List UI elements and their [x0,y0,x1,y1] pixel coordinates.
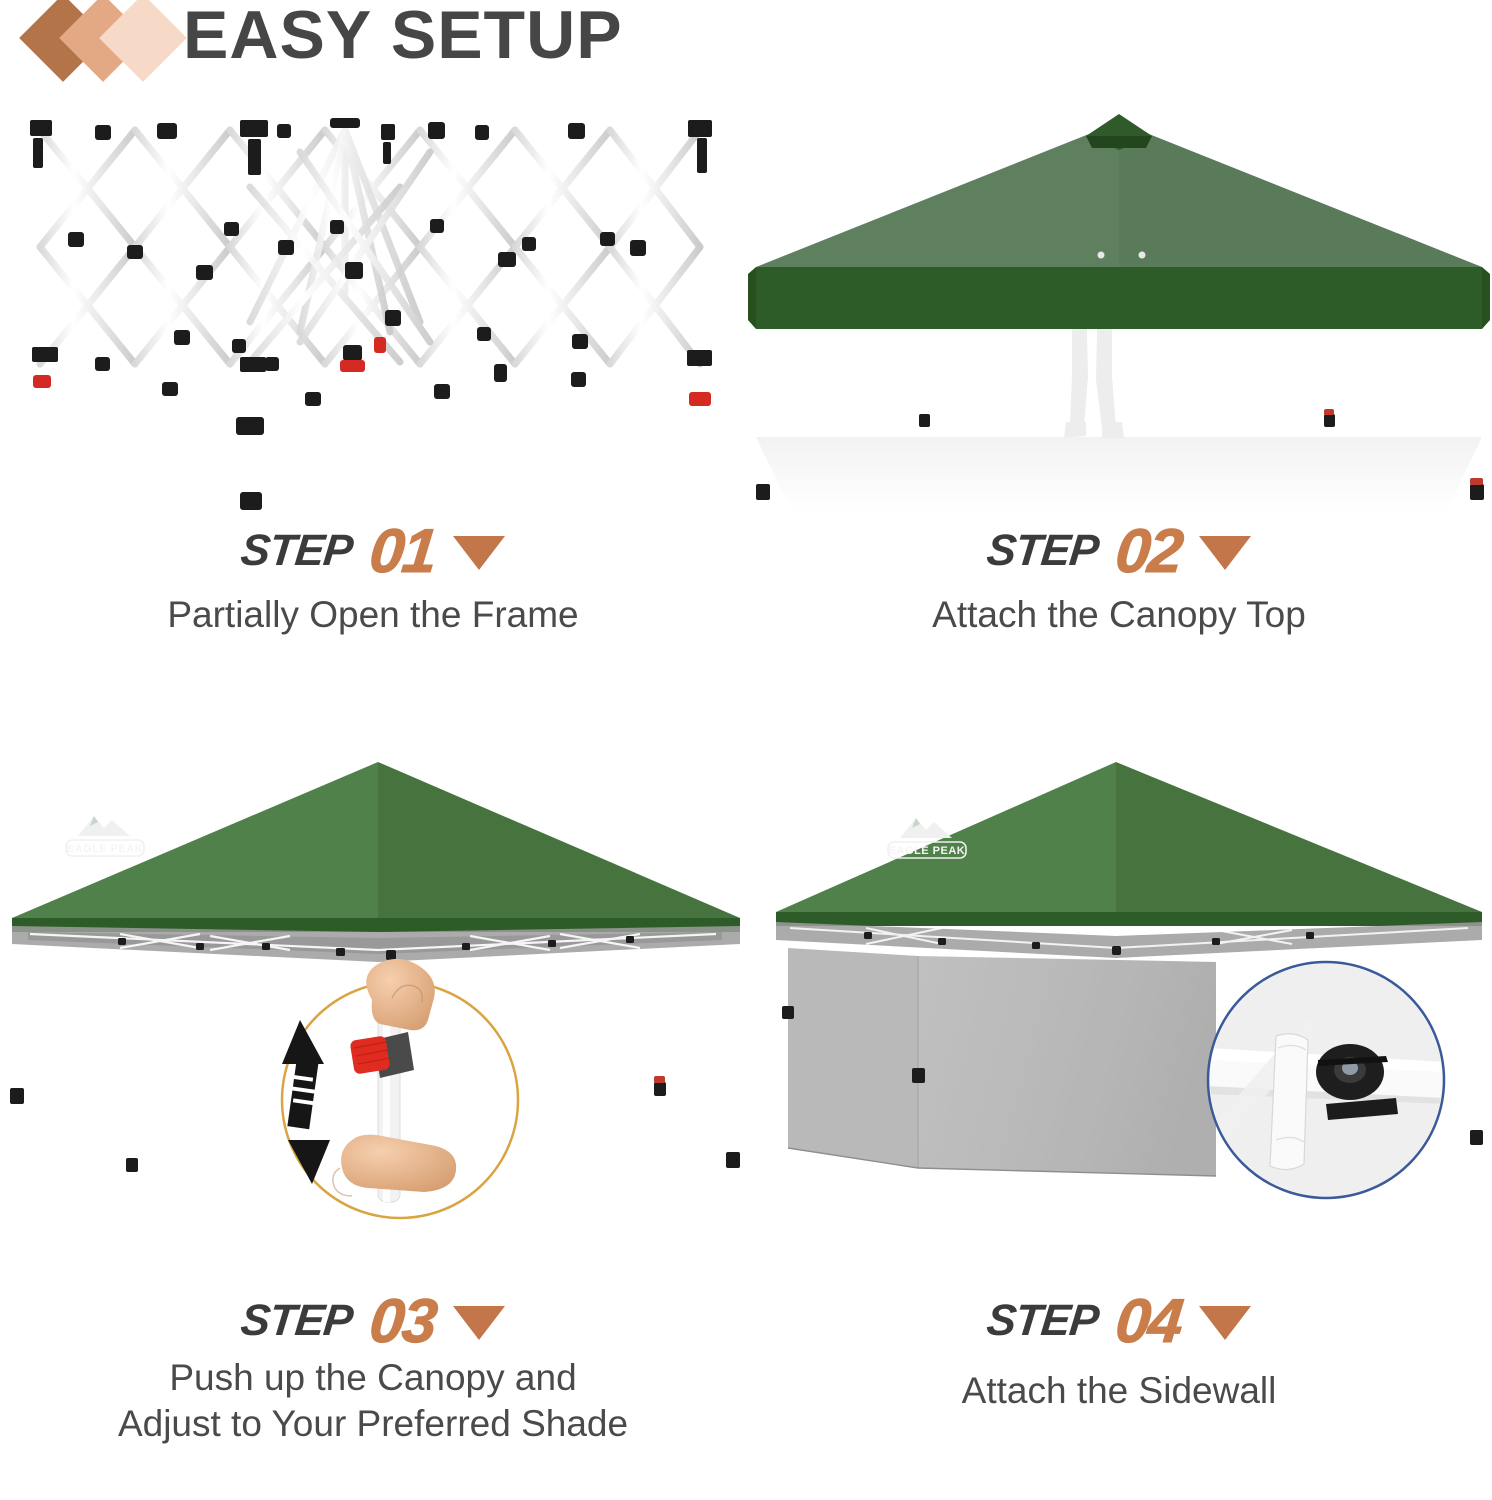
page-title: EASY SETUP [183,0,623,74]
canopy-roof-left [12,762,378,918]
step-description-3-line2: Adjust to Your Preferred Shade [0,1401,746,1447]
step-word: STEP [238,526,354,576]
folded-frame-illustration [0,92,746,512]
svg-text:EAGLE PEAK: EAGLE PEAK [889,845,966,857]
svg-text:EAGLE PEAK: EAGLE PEAK [67,843,144,855]
step-panel-2: STEP 02 Attach the Canopy Top [746,92,1492,672]
canopy-roof-left [756,122,1119,267]
diamond-cluster-icon [18,2,178,74]
triangle-down-icon [453,536,505,570]
step-number: 02 [1112,516,1184,587]
canopy-push-up-illustration: EAGLE PEAK [0,700,746,1280]
canopy-valance [756,267,1482,329]
step-panel-3: EAGLE PEAK [0,700,746,1500]
step-word: STEP [238,1296,354,1346]
detail-circle-velcro-strap [1208,962,1444,1198]
step-description-3: Push up the Canopy and Adjust to Your Pr… [0,1355,746,1448]
triangle-down-icon [1199,536,1251,570]
sidewall-left-face [788,948,918,1168]
step-label-1: STEP 01 [0,520,746,582]
brand-logo-left: EAGLE PEAK [66,816,144,856]
step-label-4: STEP 04 [746,1290,1492,1352]
velcro-strap [1270,1034,1308,1170]
canopy-sidewall-illustration: EAGLE PEAK [746,700,1492,1280]
step-description-3-line1: Push up the Canopy and [0,1355,746,1401]
red-release-button [350,1035,391,1074]
canopy-attach-top-illustration [746,92,1492,512]
triangle-down-icon [453,1306,505,1340]
step-description-1: Partially Open the Frame [0,592,746,638]
step-label-2: STEP 02 [746,520,1492,582]
step-label-3: STEP 03 [0,1290,746,1352]
page-header: EASY SETUP [0,0,1492,92]
triangle-down-icon [1199,1306,1251,1340]
detail-circle-adjust-leg [282,959,518,1218]
step-number: 04 [1112,1286,1184,1357]
step-panel-4: EAGLE PEAK [746,700,1492,1500]
step-word: STEP [984,526,1100,576]
step-panel-1: STEP 01 Partially Open the Frame [0,92,746,672]
step-number: 01 [366,516,438,587]
step-number: 03 [366,1286,438,1357]
step-description-2: Attach the Canopy Top [746,592,1492,638]
step-description-4: Attach the Sidewall [746,1368,1492,1414]
step-word: STEP [984,1296,1100,1346]
hand-upper [366,959,435,1030]
